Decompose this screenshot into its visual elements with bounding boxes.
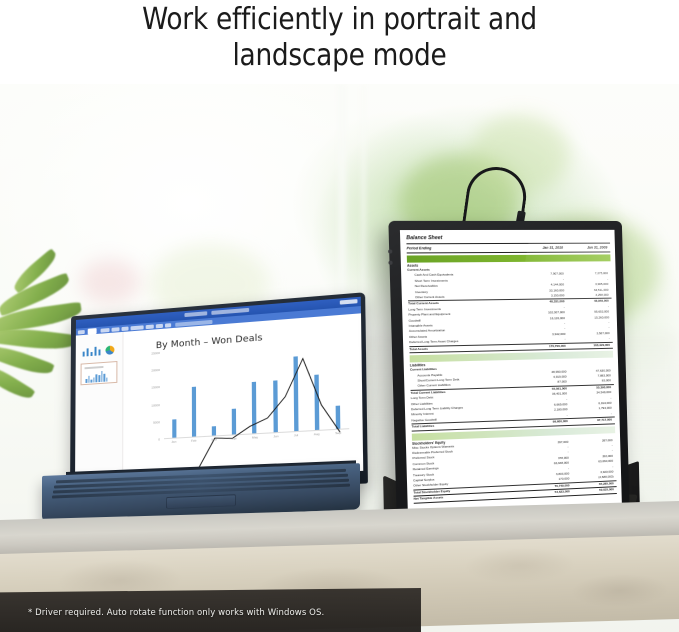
portable-monitor-device: Balance Sheet Period Ending Jan 31, 2010… xyxy=(388,169,648,549)
pie-chart-icon[interactable] xyxy=(105,345,114,355)
thumbnail-chart xyxy=(83,369,114,383)
menu-item-home[interactable] xyxy=(78,329,85,333)
menu-item-format[interactable] xyxy=(131,325,144,330)
x-tick-label: Jun xyxy=(273,434,278,438)
row-value: 54,623,000 xyxy=(528,489,573,496)
visualizations-panel xyxy=(75,332,123,484)
row-value: 50,025,000 xyxy=(573,487,617,494)
x-tick-label: Mar xyxy=(211,437,216,441)
row-value: 170,706,000 xyxy=(524,343,569,349)
trackpad[interactable] xyxy=(166,494,236,509)
power-button[interactable] xyxy=(388,249,392,253)
y-tick-label: 10000 xyxy=(151,403,160,408)
y-tick-label: 15000 xyxy=(151,385,160,390)
y-tick-label: 0 xyxy=(158,437,160,441)
x-tick-label: Apr xyxy=(232,436,237,440)
app-body: By Month – Won Deals 0500010000150002000… xyxy=(75,313,363,483)
y-axis: 0500010000150002000025000 xyxy=(139,353,162,441)
row-value: 3,150,000 xyxy=(522,293,567,299)
y-tick-label: 25000 xyxy=(151,351,160,356)
bar-chart-icon-2 xyxy=(87,348,89,356)
product-marketing-image: Work efficiently in portrait and landsca… xyxy=(0,0,679,632)
row-value: 97,717,000 xyxy=(571,418,615,425)
bar-chart-icon-4 xyxy=(95,347,97,356)
page-title: Work efficiently in portrait and landsca… xyxy=(41,2,639,74)
footnote-disclaimer: * Driver required. Auto rotate function … xyxy=(28,608,324,618)
row-label: Total Assets xyxy=(409,344,523,352)
selected-visual-thumbnail[interactable] xyxy=(81,361,118,385)
trend-line xyxy=(197,356,340,470)
x-tick-label: Sep xyxy=(335,431,341,436)
bar-chart-icon-3 xyxy=(91,352,93,356)
menu-item-more[interactable] xyxy=(165,323,171,327)
row-value: - xyxy=(568,336,612,342)
row-value: - xyxy=(524,337,569,343)
visual-type-icons[interactable] xyxy=(83,343,120,357)
laptop-device: By Month – Won Deals 0500010000150002000… xyxy=(40,314,360,514)
period-ending-label: Period Ending xyxy=(407,246,522,251)
section-band xyxy=(407,254,611,262)
document-title: Balance Sheet xyxy=(406,235,610,245)
window-controls[interactable] xyxy=(340,299,358,305)
y-tick-label: 20000 xyxy=(151,368,160,373)
row-value: 3,258,000 xyxy=(567,293,611,299)
x-tick-label: Jan xyxy=(171,440,176,444)
table-header-row: Period Ending Jan 31, 2010 Jan 31, 2009 xyxy=(407,246,611,254)
report-canvas[interactable]: By Month – Won Deals 0500010000150002000… xyxy=(123,313,363,481)
thumbnail-title-placeholder xyxy=(85,366,103,369)
column-header-current: Jan 31, 2010 xyxy=(521,246,566,250)
balance-sheet-document: Balance Sheet Period Ending Jan 31, 2010… xyxy=(400,230,623,542)
x-tick-label: May xyxy=(252,435,258,439)
bar-chart-icon-5 xyxy=(98,349,100,355)
column-header-prior: Jan 31, 2009 xyxy=(566,246,610,250)
y-tick-label: 5000 xyxy=(153,420,160,424)
menu-item-insert[interactable] xyxy=(112,327,120,332)
bar-chart-icon xyxy=(83,352,85,357)
monitor-control-buttons[interactable] xyxy=(388,249,393,264)
x-tick-label: Feb xyxy=(191,438,196,442)
headline-line-1: Work efficiently in portrait and xyxy=(41,2,639,38)
menu-item-data[interactable] xyxy=(146,324,154,329)
x-tick-label: Jul xyxy=(294,433,298,437)
combo-chart[interactable]: 0500010000150002000025000 JanFebMarAprMa… xyxy=(139,339,349,452)
chart-bar xyxy=(172,420,176,438)
laptop-screen[interactable]: By Month – Won Deals 0500010000150002000… xyxy=(75,297,363,484)
menu-button[interactable] xyxy=(388,261,392,265)
headline-line-2: landscape mode xyxy=(41,38,639,74)
x-tick-label: Aug xyxy=(314,432,320,436)
row-value: 163,429,000 xyxy=(569,343,613,349)
menu-item-view[interactable] xyxy=(101,328,110,333)
titlebar-file-chip xyxy=(211,308,249,315)
balance-sheet-sections: AssetsCurrent AssetsCash And Cash Equiva… xyxy=(407,254,617,503)
row-value: 99,600,000 xyxy=(526,419,571,426)
menu-item-modeling[interactable] xyxy=(122,326,129,331)
monitor-screen[interactable]: Balance Sheet Period Ending Jan 31, 2010… xyxy=(400,230,623,542)
product-photo-scene: By Month – Won Deals 0500010000150002000… xyxy=(0,84,679,632)
plot-area xyxy=(164,339,349,439)
menu-item-help[interactable] xyxy=(156,323,163,328)
titlebar-title-chip xyxy=(184,311,207,317)
